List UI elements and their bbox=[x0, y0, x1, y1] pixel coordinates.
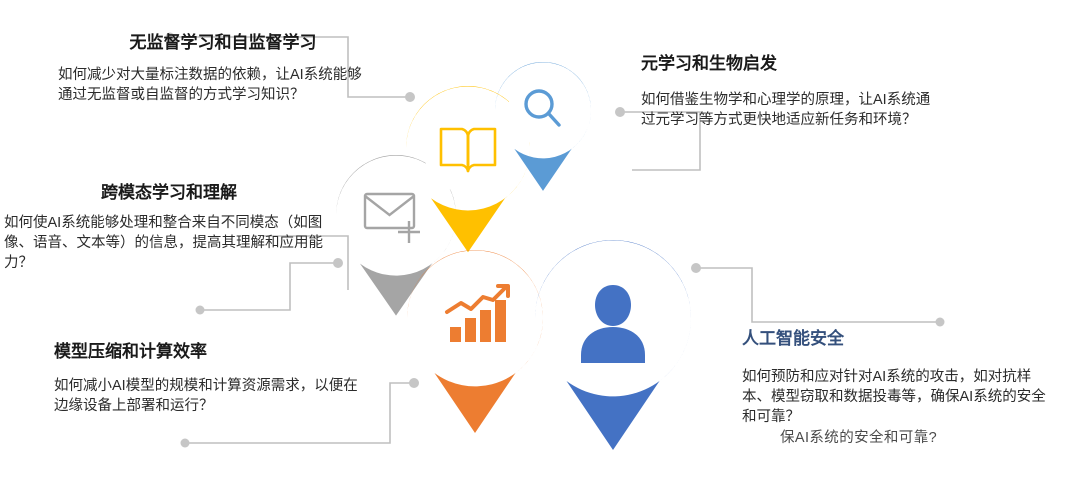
block-ai-safety: 人工智能安全 如何预防和应对针对AI系统的攻击，如对抗样本、模型窃取和数据投毒等… bbox=[742, 328, 1062, 427]
search-pin-inner bbox=[508, 75, 578, 145]
block-unsupervised: 无监督学习和自监督学习 如何减少对大量标注数据的依赖，让AI系统能够通过无监督或… bbox=[58, 32, 388, 105]
block-model-compression-body: 如何减小AI模型的规模和计算资源需求，以便在边缘设备上部署和运行？ bbox=[46, 376, 370, 416]
connector-dot-envelope-pin bbox=[333, 258, 343, 268]
search-pin[interactable] bbox=[495, 62, 591, 191]
connector-dot-cross-modal-end bbox=[196, 306, 205, 315]
block-ai-safety-ghost-overlay: 保AI系统的安全和可靠? bbox=[780, 428, 937, 448]
connector-dot-compression-end bbox=[181, 439, 190, 448]
connector-dot-safety-end bbox=[936, 318, 945, 327]
block-cross-modal-title: 跨模态学习和理解 bbox=[4, 182, 334, 203]
block-meta-learning-body: 如何借鉴生物学和心理学的原理，让AI系统通过元学习等方式更快地适应新任务和环境？ bbox=[641, 90, 943, 130]
block-unsupervised-title: 无监督学习和自监督学习 bbox=[58, 32, 388, 53]
block-meta-learning-title: 元学习和生物启发 bbox=[641, 53, 971, 74]
block-cross-modal: 跨模态学习和理解 如何使AI系统能够处理和整合来自不同模态（如图像、语音、文本等… bbox=[4, 182, 334, 273]
block-cross-modal-body: 如何使AI系统能够处理和整合来自不同模态（如图像、语音、文本等）的信息，提高其理… bbox=[4, 213, 328, 273]
block-model-compression-title: 模型压缩和计算效率 bbox=[46, 341, 376, 362]
connector-dot-search-pin bbox=[615, 107, 625, 117]
person-pin[interactable] bbox=[535, 240, 691, 450]
connector-dot-person-pin bbox=[691, 263, 701, 273]
block-unsupervised-body: 如何减少对大量标注数据的依赖，让AI系统能够通过无监督或自监督的方式学习知识？ bbox=[58, 65, 370, 105]
block-ai-safety-body: 如何预防和应对针对AI系统的攻击，如对抗样本、模型窃取和数据投毒等，确保AI系统… bbox=[742, 367, 1050, 427]
connector-dot-book-pin bbox=[405, 92, 415, 102]
chart-pin[interactable] bbox=[407, 250, 543, 433]
block-model-compression: 模型压缩和计算效率 如何减小AI模型的规模和计算资源需求，以便在边缘设备上部署和… bbox=[46, 341, 376, 416]
block-ai-safety-title: 人工智能安全 bbox=[742, 328, 1062, 349]
block-meta-learning: 元学习和生物启发 如何借鉴生物学和心理学的原理，让AI系统通过元学习等方式更快地… bbox=[641, 53, 971, 130]
connector-dot-chart-pin bbox=[409, 378, 419, 388]
connector-safety bbox=[694, 268, 940, 322]
